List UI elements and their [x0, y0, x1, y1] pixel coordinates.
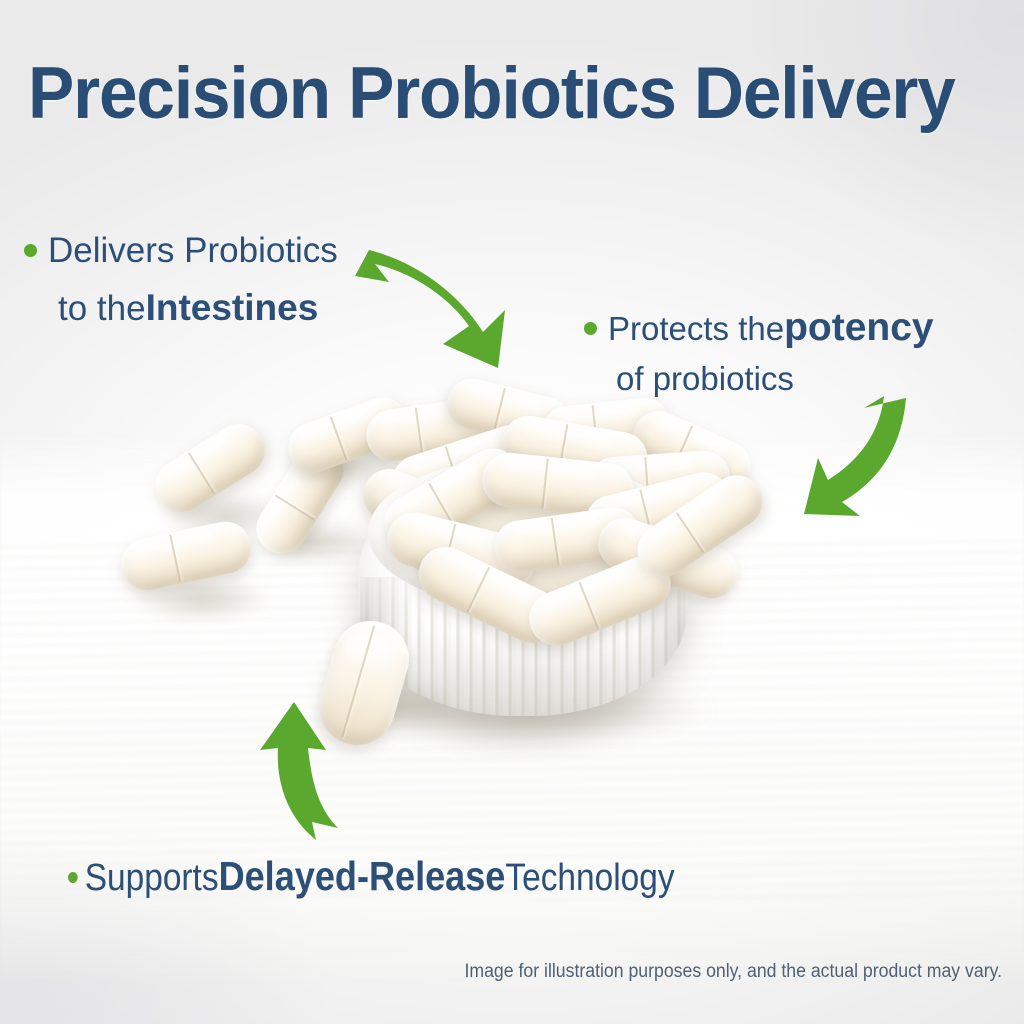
- bullet-delivers-to-intestines: Delivers Probiotics to the Intestines: [24, 222, 338, 337]
- bullet-text: Delivers Probiotics: [48, 222, 338, 279]
- arrow-to-potency-icon: [798, 392, 923, 520]
- bullet-dot-icon: [68, 872, 78, 883]
- bullet-protects-potency: Protects the potency of probiotics: [584, 303, 934, 404]
- bullet-line: Supports Delayed-Release Technology: [68, 852, 675, 902]
- bullet-line: Delivers Probiotics: [24, 222, 338, 279]
- bullet-text: to the: [58, 280, 146, 337]
- bullet-text: Supports: [85, 854, 219, 902]
- bullet-text-emphasis: Delayed-Release: [219, 852, 506, 900]
- bullet-text-emphasis: Intestines: [146, 279, 319, 336]
- bullet-text: Technology: [505, 854, 674, 902]
- product-photo: [90, 380, 790, 800]
- disclaimer-text: Image for illustration purposes only, an…: [464, 961, 1002, 983]
- arrow-to-delayed-release-icon: [250, 700, 360, 840]
- probiotics-infographic: Precision Probiotics Delivery Delivers P…: [0, 0, 1024, 1024]
- arrow-to-intestines-icon: [355, 248, 520, 368]
- bullet-text: of probiotics: [616, 354, 794, 404]
- bullet-dot-icon: [24, 244, 37, 257]
- bullet-text: Protects the: [608, 304, 784, 354]
- page-title: Precision Probiotics Delivery: [28, 57, 955, 130]
- bullet-line: Protects the potency: [584, 303, 934, 354]
- bullet-text-emphasis: potency: [784, 303, 934, 353]
- bullet-line: to the Intestines: [24, 279, 338, 337]
- bullet-delayed-release-technology: Supports Delayed-Release Technology: [68, 852, 675, 902]
- bullet-dot-icon: [584, 322, 597, 335]
